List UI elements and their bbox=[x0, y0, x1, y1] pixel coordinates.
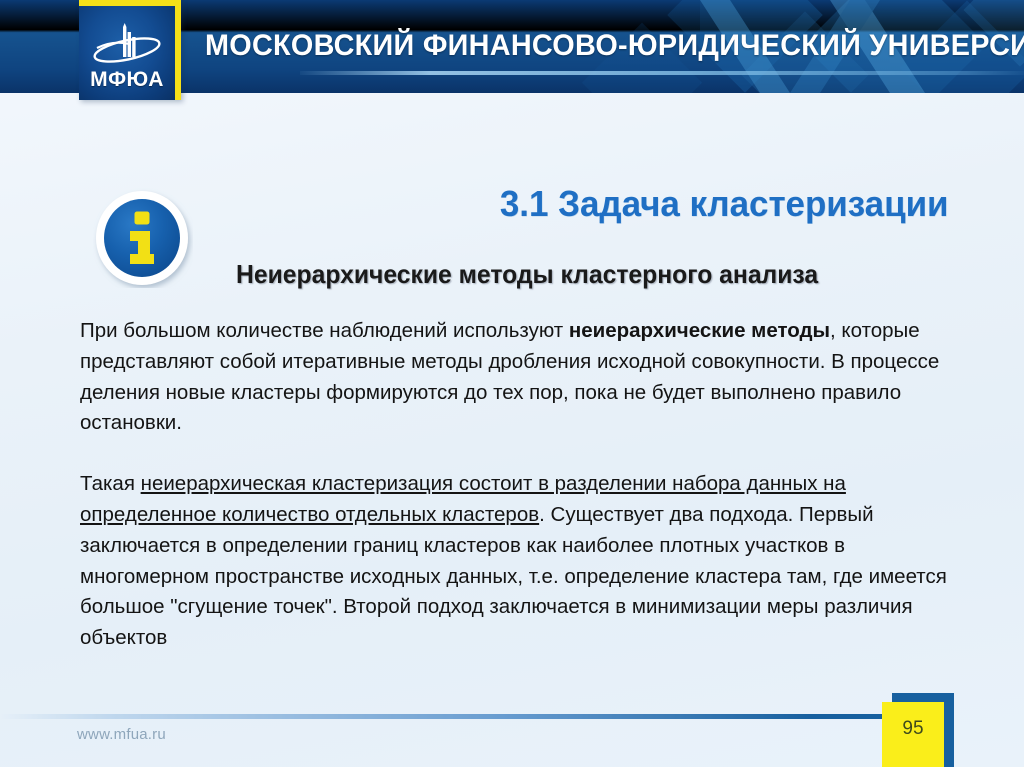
header-separator-line bbox=[300, 71, 1024, 75]
p1-bold: неиерархические методы bbox=[569, 319, 830, 342]
university-logo: МФЮА bbox=[79, 0, 181, 100]
slide-subtitle: Неиерархические методы кластерного анали… bbox=[236, 259, 818, 290]
logo-text: МФЮА bbox=[79, 68, 175, 92]
paragraph-1: При большом количестве наблюдений исполь… bbox=[80, 316, 960, 439]
footer-website-url: www.mfua.ru bbox=[77, 726, 166, 743]
mfua-emblem-icon bbox=[87, 23, 167, 71]
slide-body: При большом количестве наблюдений исполь… bbox=[80, 316, 960, 654]
page-number: 95 bbox=[882, 718, 944, 740]
university-title: МОСКОВСКИЙ ФИНАНСОВО-ЮРИДИЧЕСКИЙ УНИВЕРС… bbox=[205, 29, 1024, 63]
p2-part1: Такая bbox=[80, 472, 141, 495]
p1-part1: При большом количестве наблюдений исполь… bbox=[80, 319, 569, 342]
info-circle-icon bbox=[93, 188, 193, 288]
paragraph-2: Такая неиерархическая кластеризация сост… bbox=[80, 469, 960, 654]
slide-title: 3.1 Задача кластеризации bbox=[499, 183, 948, 225]
presentation-slide: МОСКОВСКИЙ ФИНАНСОВО-ЮРИДИЧЕСКИЙ УНИВЕРС… bbox=[0, 0, 1024, 767]
footer-separator-line bbox=[0, 714, 922, 719]
